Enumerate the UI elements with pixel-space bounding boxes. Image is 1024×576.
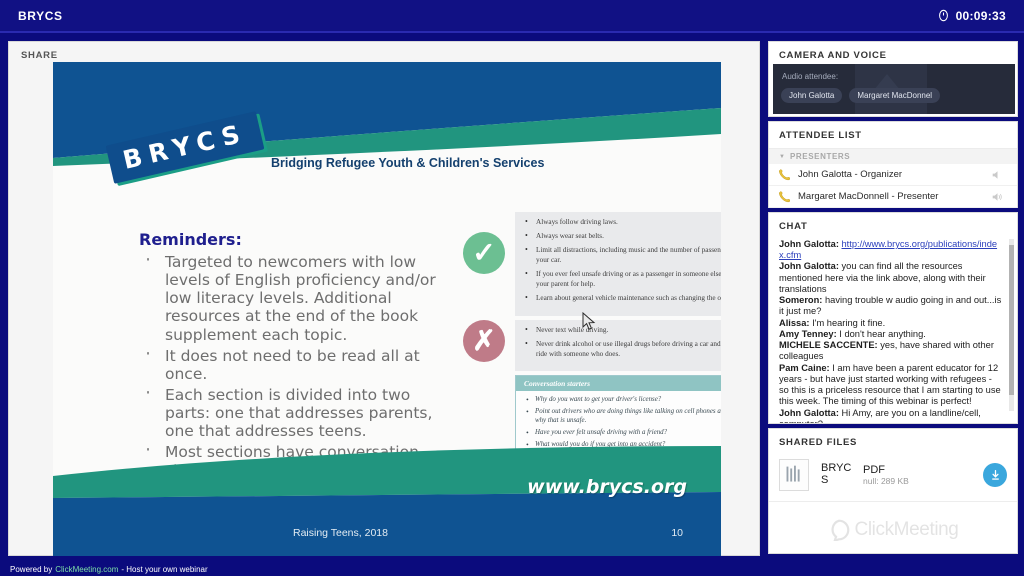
brycs-logo: BRYCS Bridging Refugee Youth & Children'… (108, 122, 508, 182)
right-sidebar: CAMERA AND VOICE Audio attendee: John Ga… (768, 41, 1018, 556)
speaker-muted-icon[interactable] (992, 170, 1003, 180)
dont-list: Never text while driving. Never drink al… (525, 326, 721, 360)
chat-text: I don't hear anything. (839, 329, 926, 339)
slide-bottom-wave-decoration (53, 446, 721, 556)
chat-author: Someron: (779, 295, 822, 305)
attendee-list-header: ATTENDEE LIST (769, 122, 1017, 148)
shared-files-header: SHARED FILES (769, 429, 1017, 455)
brycs-logo-text: BRYCS (120, 118, 249, 175)
chat-message: Pam Caine: I am have been a parent educa… (779, 363, 1003, 408)
slide-website-url: www.brycs.org (527, 476, 687, 498)
conversation-item: Why do you want to get your driver's lic… (526, 396, 721, 405)
checkmark-icon: ✓ (463, 232, 505, 274)
phone-icon (778, 168, 791, 181)
dont-item: Never text while driving. (525, 326, 721, 336)
attendee-row[interactable]: John Galotta - Organizer (769, 164, 1017, 186)
clickmeeting-webinar-window: BRYCS 00:09:33 SHARE BRYCS Bridging Refu… (0, 0, 1024, 576)
speaker-icon[interactable] (992, 192, 1003, 202)
brycs-logo-banner: BRYCS (106, 111, 265, 184)
conversation-item: Have you ever felt unsafe driving with a… (526, 429, 721, 438)
presenters-group-row[interactable]: ▼ PRESENTERS (769, 148, 1017, 164)
shared-file-type: PDF (863, 464, 983, 477)
dont-list-box: Never text while driving. Never drink al… (515, 320, 721, 371)
do-item: Always wear seat belts. (525, 232, 721, 242)
slide-page-number: 10 (671, 527, 683, 539)
chat-author: John Galotta: (779, 239, 839, 249)
camera-stage[interactable]: Audio attendee: John Galotta Margaret Ma… (773, 64, 1015, 114)
file-thumbnail-icon (779, 459, 809, 491)
checkmark-glyph: ✓ (472, 239, 495, 267)
chat-author: MICHELE SACCENTE: (779, 340, 878, 350)
chat-author: John Galotta: (779, 408, 839, 418)
chat-card: CHAT John Galotta: http://www.brycs.org/… (768, 212, 1018, 424)
do-list-box: Always follow driving laws. Always wear … (515, 212, 721, 316)
attendee-name: John Galotta - Organizer (798, 169, 902, 180)
chat-scrollbar-thumb[interactable] (1009, 245, 1014, 395)
reminders-item: Targeted to newcomers with low levels of… (139, 253, 444, 344)
brycs-logo-tagline: Bridging Refugee Youth & Children's Serv… (271, 156, 544, 170)
reminders-heading: Reminders: (139, 230, 444, 249)
webinar-title: BRYCS (18, 9, 63, 23)
cross-glyph: ✗ (472, 327, 495, 355)
shared-file-size: null: 289 KB (863, 476, 983, 486)
attendee-list-card: ATTENDEE LIST ▼ PRESENTERS John Galotta … (768, 121, 1018, 208)
cross-icon: ✗ (463, 320, 505, 362)
dont-item: Never drink alcohol or use illegal drugs… (525, 340, 721, 359)
presentation-slide[interactable]: BRYCS Bridging Refugee Youth & Children'… (53, 62, 721, 556)
chat-author: John Galotta: (779, 261, 839, 271)
clickmeeting-link[interactable]: ClickMeeting.com (55, 565, 118, 574)
do-item: Learn about general vehicle maintenance … (525, 294, 721, 304)
chat-message: Someron: having trouble w audio going in… (779, 295, 1003, 317)
clickmeeting-watermark: ClickMeeting (769, 519, 1017, 541)
do-list: Always follow driving laws. Always wear … (525, 218, 721, 304)
shared-files-card: SHARED FILES BRYCS PDF null: 2 (768, 428, 1018, 554)
audio-attendee-label: Audio attendee: (782, 72, 838, 81)
elapsed-timer: 00:09:33 (956, 9, 1006, 23)
chat-text: I'm hearing it fine. (812, 318, 885, 328)
reminders-block: Reminders: Targeted to newcomers with lo… (139, 230, 444, 483)
powered-by-suffix: - Host your own webinar (121, 565, 207, 574)
attendee-row[interactable]: Margaret MacDonnell - Presenter (769, 186, 1017, 208)
download-button[interactable] (983, 463, 1007, 487)
chat-author: Alissa: (779, 318, 810, 328)
conversation-starters-heading: Conversation starters (516, 376, 721, 391)
share-panel-label: SHARE (21, 50, 58, 61)
do-item: Always follow driving laws. (525, 218, 721, 228)
shared-file-row[interactable]: BRYCS PDF null: 289 KB (769, 455, 1017, 502)
audio-attendee-pill[interactable]: Margaret MacDonnel (849, 88, 940, 103)
conversation-item: Point out drivers who are doing things l… (526, 408, 721, 426)
document-icon (780, 460, 808, 490)
phone-icon (778, 190, 791, 203)
powered-by-prefix: Powered by (10, 565, 52, 574)
download-icon (989, 469, 1002, 482)
chat-message: Alissa: I'm hearing it fine. (779, 318, 1003, 329)
do-item: Limit all distractions, including music … (525, 246, 721, 265)
timer-group: 00:09:33 (937, 9, 1006, 23)
chat-message-list[interactable]: John Galotta: http://www.brycs.org/publi… (769, 239, 1017, 424)
shared-file-meta: PDF null: 289 KB (863, 464, 983, 487)
clock-icon (937, 9, 950, 22)
camera-and-voice-card: CAMERA AND VOICE Audio attendee: John Ga… (768, 41, 1018, 117)
clickmeeting-watermark-text: ClickMeeting (855, 519, 959, 541)
reminders-item: It does not need to be read all at once. (139, 347, 444, 383)
chat-message: John Galotta: Hi Amy, are you on a landl… (779, 408, 1003, 424)
chat-message: John Galotta: http://www.brycs.org/publi… (779, 239, 1003, 261)
audio-attendee-pill[interactable]: John Galotta (781, 88, 842, 103)
chevron-down-icon[interactable]: ▼ (779, 154, 785, 160)
do-item: If you ever feel unsafe driving or as a … (525, 270, 721, 289)
share-panel: SHARE BRYCS Bridging Refugee Youth & Chi… (8, 41, 760, 556)
bottom-status-bar: Powered by ClickMeeting.com - Host your … (0, 562, 1024, 576)
shared-file-name: BRYCS (821, 463, 853, 487)
attendee-name: Margaret MacDonnell - Presenter (798, 191, 938, 202)
mouse-cursor (582, 312, 596, 332)
chat-author: Amy Tenney: (779, 329, 837, 339)
audio-attendee-pills: John Galotta Margaret MacDonnel (781, 88, 940, 103)
chat-message: Amy Tenney: I don't hear anything. (779, 329, 1003, 340)
reminders-item: Each section is divided into two parts: … (139, 386, 444, 440)
chat-message: MICHELE SACCENTE: yes, have shared with … (779, 340, 1003, 362)
chat-message: John Galotta: you can find all the resou… (779, 261, 1003, 295)
presenters-group-label: PRESENTERS (790, 152, 850, 161)
chat-scrollbar[interactable] (1009, 239, 1014, 411)
clickmeeting-logo-icon (828, 519, 850, 541)
chat-header: CHAT (769, 213, 1017, 239)
top-bar: BRYCS 00:09:33 (0, 0, 1024, 33)
slide-footnote: Raising Teens, 2018 (293, 527, 388, 539)
chat-author: Pam Caine: (779, 363, 830, 373)
